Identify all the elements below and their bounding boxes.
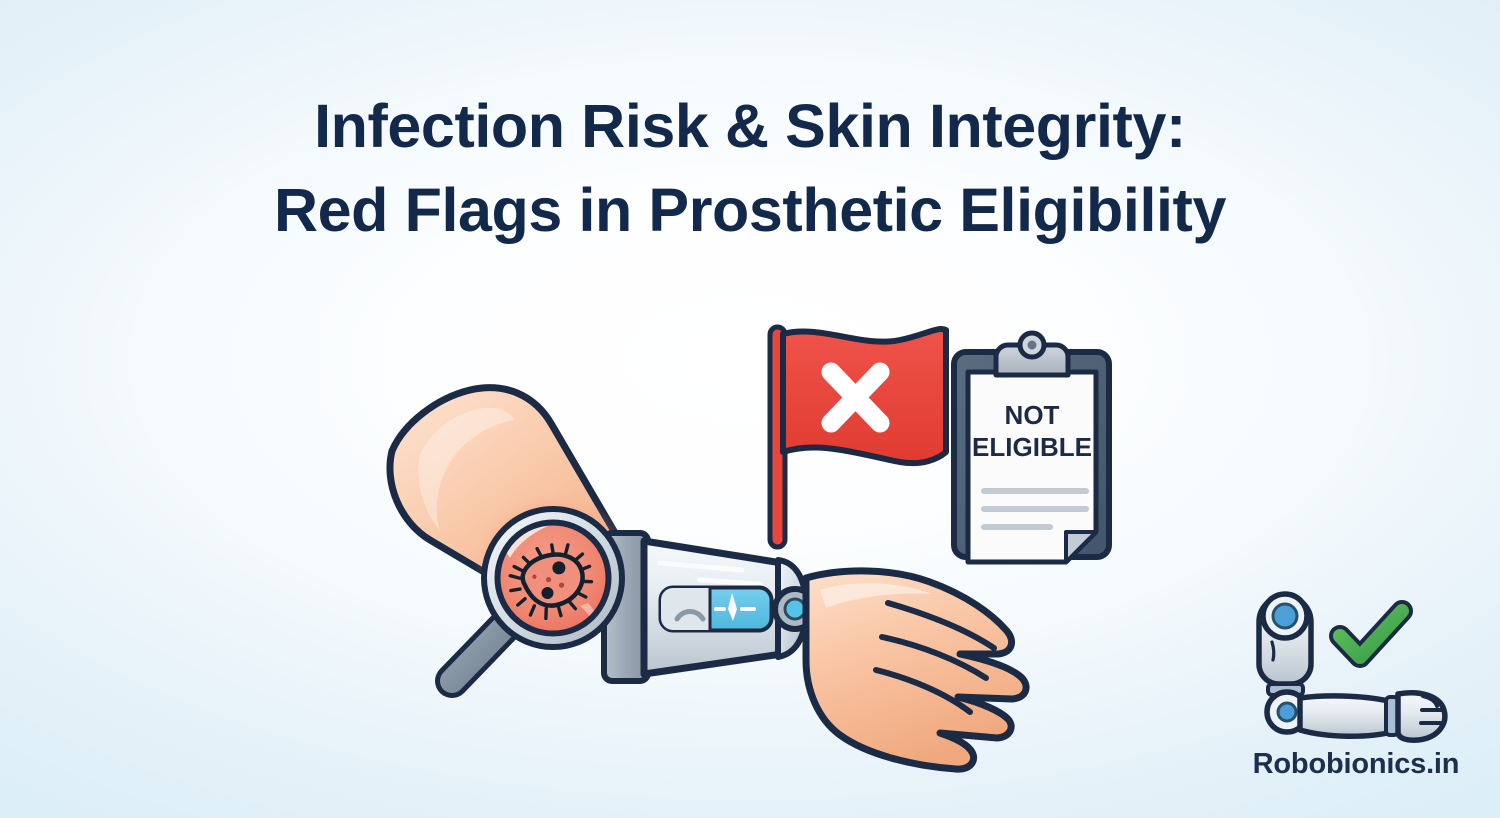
clipboard-text-line-1: NOT: [1005, 400, 1060, 430]
red-warning-flag: [770, 327, 946, 547]
brand-wordmark[interactable]: Robobionics.in: [1216, 748, 1496, 781]
clipboard-text-line-2: ELIGIBLE: [972, 432, 1092, 462]
poster-canvas: Infection Risk & Skin Integrity: Red Fla…: [0, 0, 1500, 818]
logo-upper-arm-detail: [1272, 642, 1274, 660]
not-eligible-clipboard: NOT ELIGIBLE: [954, 333, 1109, 562]
logo-shoulder-core: [1273, 604, 1297, 628]
panel-dial-area: [661, 588, 710, 630]
wrist-joint-core: [785, 599, 805, 619]
logo-elbow-core: [1278, 703, 1296, 721]
logo-fist: [1398, 693, 1445, 740]
clip-ring-hole: [1028, 341, 1037, 350]
illustration-layer: NOT ELIGIBLE: [0, 0, 1500, 818]
robobionics-logo-mark[interactable]: [1259, 594, 1445, 740]
logo-forearm: [1300, 696, 1392, 736]
prosthetic-control-panel[interactable]: [661, 588, 771, 630]
